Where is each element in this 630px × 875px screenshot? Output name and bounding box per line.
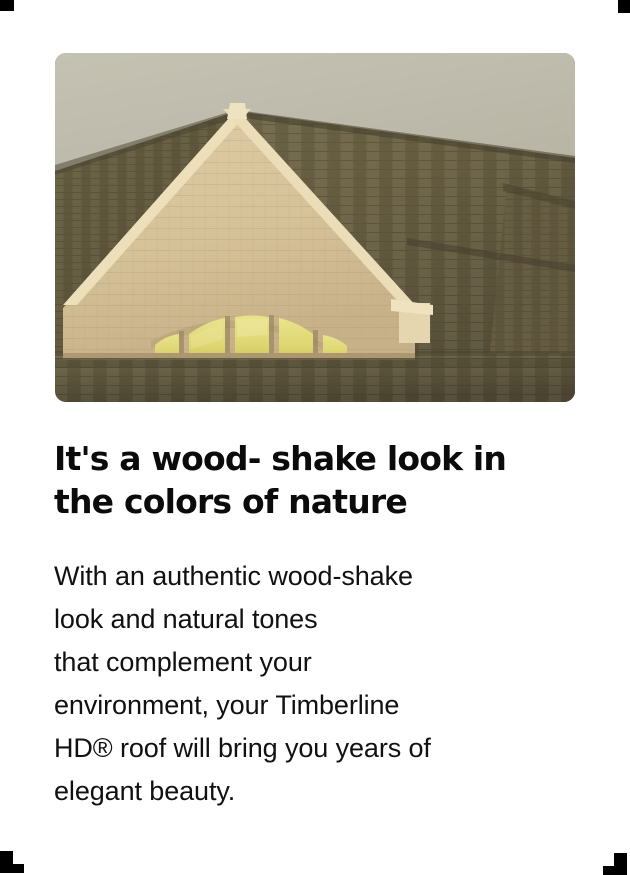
roof-photo-illustration bbox=[55, 53, 575, 402]
content-card: It's a wood- shake look in the colors of… bbox=[0, 0, 630, 875]
text-block: It's a wood- shake look in the colors of… bbox=[54, 437, 579, 813]
page-title: It's a wood- shake look in the colors of… bbox=[54, 437, 579, 523]
roof-photo bbox=[55, 53, 575, 402]
body-paragraph: With an authentic wood-shake look and na… bbox=[54, 523, 579, 813]
